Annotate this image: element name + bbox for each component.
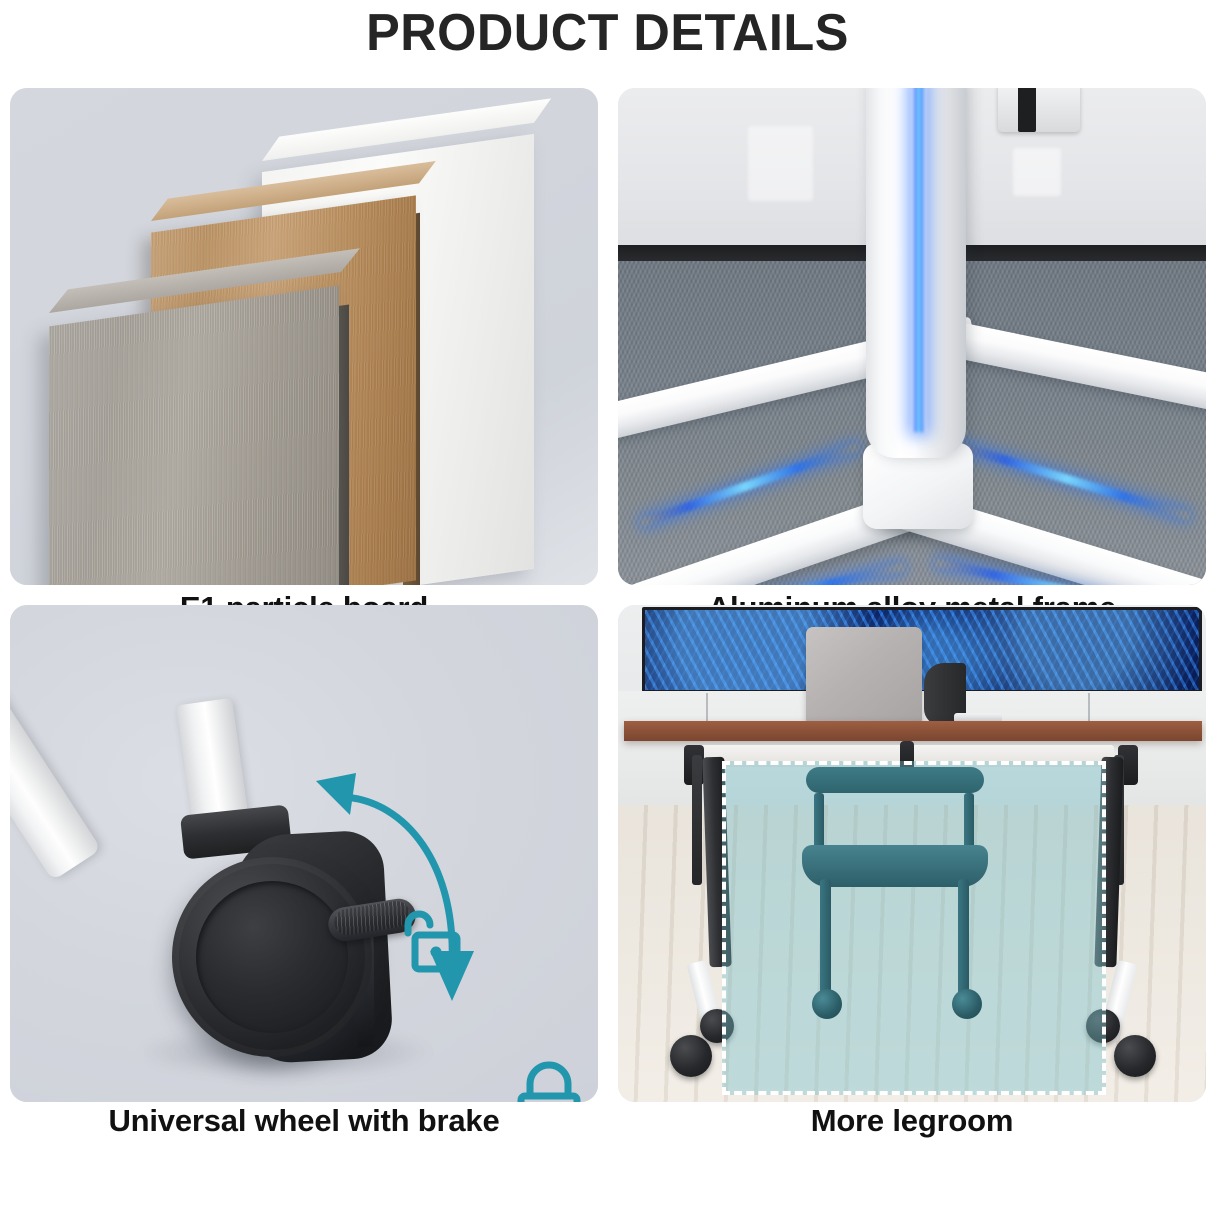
panel-grid: E1 particle board bbox=[10, 88, 1206, 1198]
desk-bracket-arm-left bbox=[692, 755, 702, 885]
blue-glow-column bbox=[912, 88, 926, 432]
panel-image-aluminum-frame bbox=[618, 88, 1206, 585]
wall-display-screen bbox=[642, 607, 1202, 693]
panel-more-legroom: More legroom bbox=[618, 605, 1206, 1102]
page-title: PRODUCT DETAILS bbox=[18, 2, 1197, 64]
wall-panel-left bbox=[748, 126, 813, 201]
desk-clamp-grip bbox=[1018, 88, 1036, 132]
board-gray-face bbox=[49, 286, 339, 585]
desk-caster-front-right bbox=[1114, 1035, 1156, 1077]
caption-universal-wheel: Universal wheel with brake bbox=[10, 1101, 598, 1141]
panel-universal-wheel: Universal wheel with brake bbox=[10, 605, 598, 1102]
panel-image-universal-wheel bbox=[10, 605, 598, 1102]
panel-particle-board: E1 particle board bbox=[10, 88, 598, 585]
desk-surface bbox=[624, 721, 1202, 741]
product-details-infographic: PRODUCT DETAILS E1 pa bbox=[0, 0, 1215, 1205]
legroom-dashed-outline bbox=[722, 761, 1106, 1095]
desk-clamp bbox=[998, 88, 1080, 132]
lock-toggle-arrow bbox=[310, 755, 490, 1020]
wall-panel-right bbox=[1013, 148, 1061, 196]
caption-more-legroom: More legroom bbox=[618, 1101, 1206, 1141]
desk-caster-front-left bbox=[670, 1035, 712, 1077]
board-gray bbox=[49, 286, 339, 585]
panel-image-particle-board bbox=[10, 88, 598, 585]
panel-aluminum-frame: Aluminum alloy metal frame bbox=[618, 88, 1206, 585]
lock-icon bbox=[510, 1060, 588, 1102]
laptop bbox=[806, 627, 922, 723]
panel-image-more-legroom bbox=[618, 605, 1206, 1102]
